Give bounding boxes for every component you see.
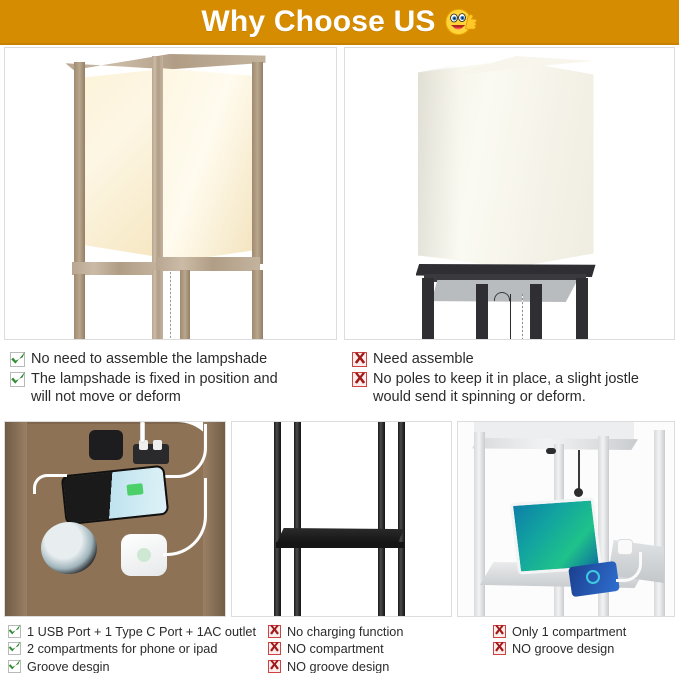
list-item: 1 USB Port + 1 Type C Port + 1AC outlet <box>8 624 258 640</box>
list-item-label: NO groove design <box>512 641 614 657</box>
list-item: Need assemble <box>352 350 674 369</box>
list-item: 2 compartments for phone or ipad <box>8 641 258 657</box>
list-item-label: NO compartment <box>287 641 384 657</box>
bottom-comparison-images <box>0 421 679 619</box>
list-item: No need to assemble the lampshade <box>10 350 340 369</box>
theirs-top-feature-list: Need assemble No poles to keep it in pla… <box>352 350 674 408</box>
fabric-shade-black-frame-lamp-photo <box>344 47 675 340</box>
wooden-grooved-shelf-charging-photo <box>4 421 226 617</box>
list-item-label: No need to assemble the lampshade <box>31 350 267 369</box>
header-banner: Why Choose US <box>0 0 679 45</box>
list-item: Only 1 compartment <box>493 624 678 640</box>
bluetooth-speaker <box>41 522 97 574</box>
wooden-lamp-illustration <box>56 48 286 340</box>
list-item: The lampshade is fixed in position and w… <box>10 370 340 407</box>
power-adapter <box>89 430 123 460</box>
ours-top-feature-list: No need to assemble the lampshade The la… <box>10 350 340 408</box>
cross-icon <box>268 660 281 673</box>
list-item: NO compartment <box>268 641 458 657</box>
black-metal-frame-plain-shelf-photo <box>231 421 452 617</box>
check-icon <box>10 352 25 367</box>
list-item-label: 1 USB Port + 1 Type C Port + 1AC outlet <box>27 624 256 640</box>
list-item: NO groove design <box>493 641 678 657</box>
thumbs-up-smiley-emoji <box>444 5 478 39</box>
theirs-bottom-feature-list-2: Only 1 compartment NO groove design <box>493 624 678 659</box>
wooden-frame-lamp-assembled-photo <box>4 47 337 340</box>
tablet <box>510 497 603 574</box>
cross-icon <box>493 625 506 638</box>
list-item-label: No poles to keep it in place, a slight j… <box>373 370 639 407</box>
check-icon <box>8 642 21 655</box>
list-item-label: The lampshade is fixed in position and w… <box>31 370 278 407</box>
list-item: No charging function <box>268 624 458 640</box>
cross-icon <box>493 642 506 655</box>
ours-bottom-feature-list: 1 USB Port + 1 Type C Port + 1AC outlet … <box>8 624 258 673</box>
white-frame-illustration <box>458 422 674 616</box>
fabric-lamp-illustration <box>410 52 610 340</box>
why-choose-us-infographic: Why Choose US <box>0 0 679 673</box>
list-item-label: Groove desgin <box>27 659 110 673</box>
cross-icon <box>352 352 367 367</box>
white-frame-single-shelf-photo <box>457 421 675 617</box>
black-frame-illustration <box>232 422 451 616</box>
check-icon <box>10 372 25 387</box>
list-item: NO groove design <box>268 659 458 673</box>
check-icon <box>8 625 21 638</box>
list-item: No poles to keep it in place, a slight j… <box>352 370 674 407</box>
list-item: Groove desgin <box>8 659 258 673</box>
cross-icon <box>268 642 281 655</box>
list-item-label: 2 compartments for phone or ipad <box>27 641 217 657</box>
check-icon <box>8 660 21 673</box>
top-comparison-images <box>0 47 679 342</box>
list-item-label: NO groove design <box>287 659 389 673</box>
page-title: Why Choose US <box>201 7 435 37</box>
cross-icon <box>352 372 367 387</box>
list-item-label: Only 1 compartment <box>512 624 626 640</box>
theirs-bottom-feature-list-1: No charging function NO compartment NO g… <box>268 624 458 673</box>
list-item-label: Need assemble <box>373 350 474 369</box>
list-item-label: No charging function <box>287 624 403 640</box>
cross-icon <box>268 625 281 638</box>
